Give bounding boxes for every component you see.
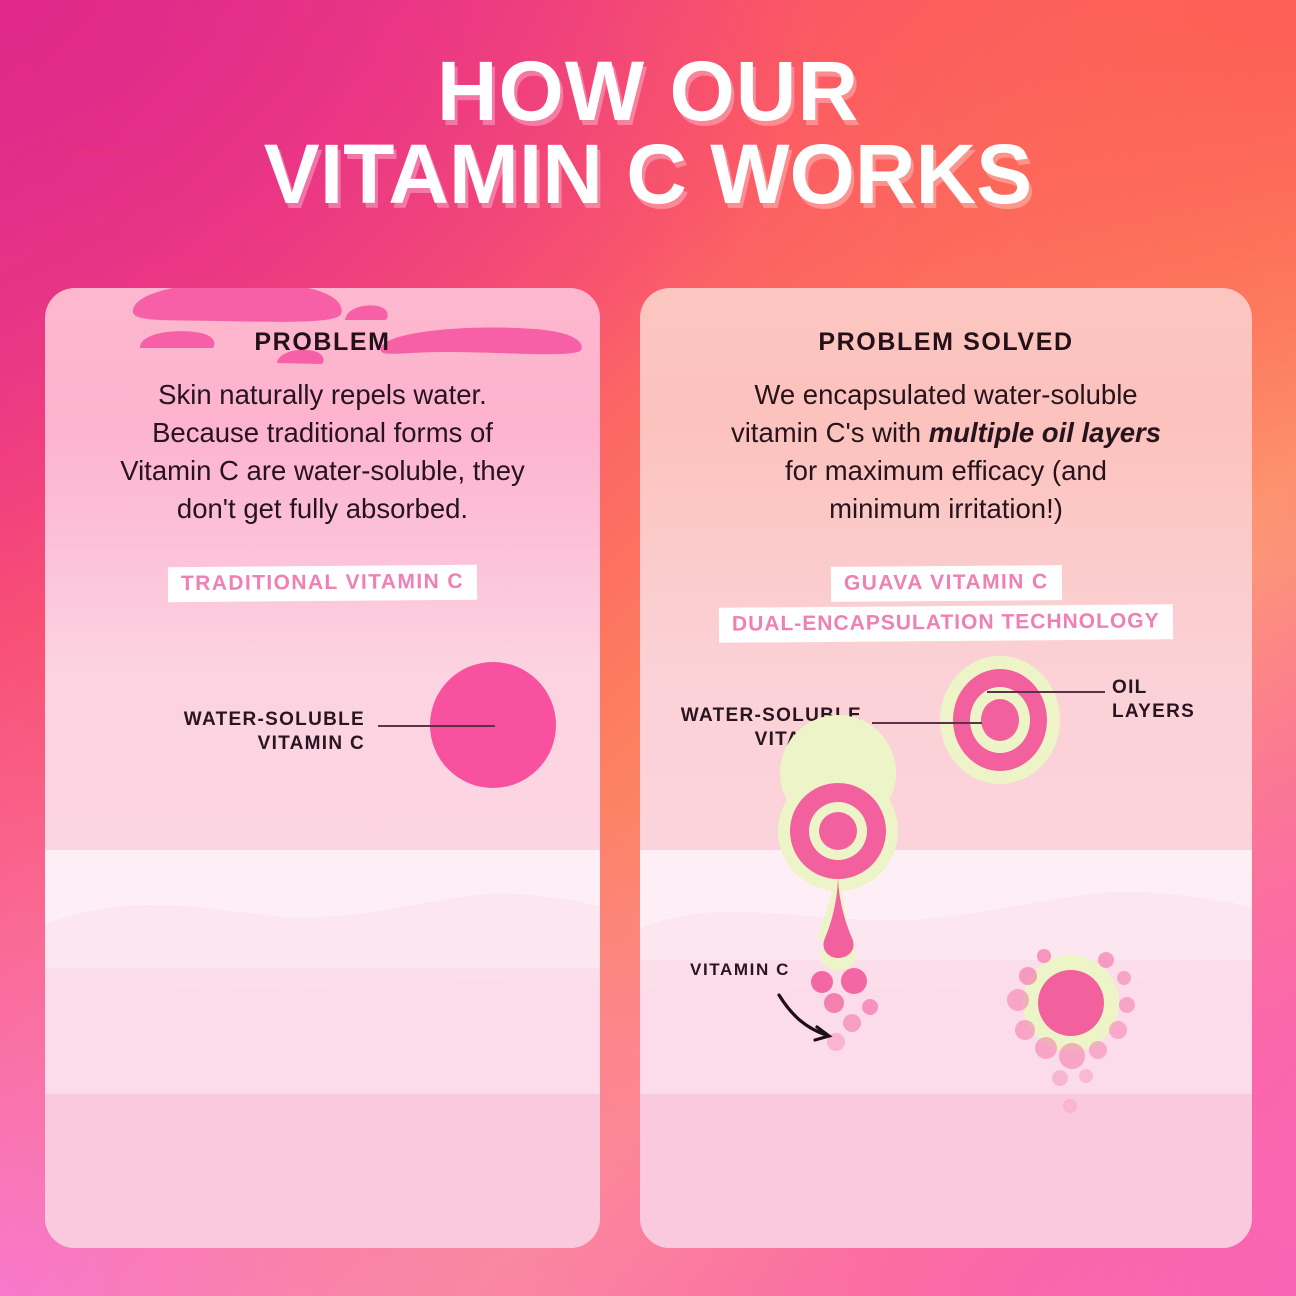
body-line: don't get fully absorbed. bbox=[63, 490, 582, 528]
callout-vitamin-c-release: VITAMIN C bbox=[690, 960, 790, 980]
title-line-2: VITAMIN C WORKS bbox=[0, 133, 1296, 216]
panel-heading-problem: PROBLEM bbox=[45, 328, 600, 357]
panel-problem-solved: PROBLEM SOLVED We encapsulated water-sol… bbox=[640, 288, 1252, 1248]
infographic-canvas: TLB GROUP LLC HOW OUR VITAMIN C WORKS bbox=[0, 0, 1296, 1296]
body-line: Vitamin C are water-soluble, they bbox=[63, 452, 582, 490]
body-line: Skin naturally repels water. bbox=[63, 376, 582, 414]
panel-problem: PROBLEM Skin naturally repels water. Bec… bbox=[45, 288, 600, 1248]
page-title: HOW OUR VITAMIN C WORKS bbox=[0, 50, 1296, 216]
panels-container: PROBLEM Skin naturally repels water. Bec… bbox=[0, 288, 1296, 1248]
vitamin-c-arrow bbox=[779, 995, 829, 1040]
capsules-diagram bbox=[640, 288, 1252, 1248]
badge-traditional-vitamin-c: TRADITIONAL VITAMIN C bbox=[168, 565, 477, 602]
badge-row-left: TRADITIONAL VITAMIN C bbox=[45, 566, 600, 601]
body-line: Because traditional forms of bbox=[63, 414, 582, 452]
callout-line: VITAMIN C bbox=[85, 732, 365, 756]
callout-water-soluble-vitamin-c: WATER-SOLUBLE VITAMIN C bbox=[85, 708, 365, 757]
panel-body-problem: Skin naturally repels water. Because tra… bbox=[63, 376, 582, 528]
capsule-mid-right bbox=[1023, 955, 1119, 1051]
title-line-1: HOW OUR bbox=[0, 50, 1296, 133]
capsule-large bbox=[778, 715, 898, 970]
leader-line-water-soluble bbox=[378, 725, 495, 727]
callout-line: WATER-SOLUBLE bbox=[85, 708, 365, 732]
